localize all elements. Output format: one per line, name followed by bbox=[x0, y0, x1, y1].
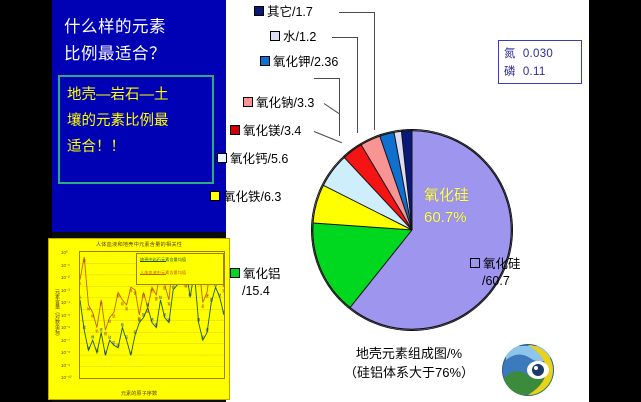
inset-y-tick: 10⁻⁹ bbox=[61, 363, 70, 369]
swatch-sio2-icon bbox=[470, 258, 480, 268]
pie-chart bbox=[312, 130, 512, 330]
svg-text:氧: 氧 bbox=[80, 281, 82, 286]
inset-y-tick: 10⁻¹⁰ bbox=[61, 375, 71, 381]
highlight-line-1: 地壳—岩石—土 bbox=[67, 82, 209, 108]
pie-label-sio2-value: /60.7 bbox=[470, 273, 521, 290]
svg-text:铬: 铬 bbox=[155, 322, 159, 327]
leader-na2o bbox=[324, 103, 339, 114]
nutrient-label-phosphorus: 磷 bbox=[504, 66, 516, 78]
svg-text:硒: 硒 bbox=[150, 288, 153, 293]
svg-text:镍: 镍 bbox=[167, 301, 170, 306]
svg-text:钙: 钙 bbox=[95, 347, 99, 352]
svg-text:磷: 磷 bbox=[117, 342, 121, 347]
pie-slice-borders bbox=[312, 130, 512, 330]
svg-text:硅: 硅 bbox=[108, 335, 112, 340]
inset-y-tick: 10⁰ bbox=[61, 250, 68, 256]
caption-line-1: 地壳元素组成图/% bbox=[310, 344, 508, 363]
svg-text:氧: 氧 bbox=[80, 294, 82, 299]
svg-text:镍: 镍 bbox=[167, 317, 170, 322]
swatch-cao-icon bbox=[217, 153, 227, 163]
svg-text:铷: 铷 bbox=[222, 310, 224, 315]
inset-y-tick: 10⁻⁷ bbox=[61, 338, 70, 344]
svg-text:钼: 钼 bbox=[142, 293, 145, 298]
svg-text:锌: 锌 bbox=[129, 350, 133, 355]
inset-legend: 地壳中岩石元素含量均值 人体血液中元素含量均值 bbox=[136, 253, 224, 285]
leader-water-h bbox=[332, 37, 358, 38]
svg-text:铜: 铜 bbox=[133, 291, 136, 296]
leader-water-v bbox=[357, 37, 358, 133]
inset-correlation-chart: 人体血液和地壳中元素含量的相关性 元素含量（对数坐标） 元素的原子序数 氧碳钠钾… bbox=[48, 238, 230, 400]
nutrient-row-phosphorus: 磷 0.11 bbox=[504, 63, 546, 79]
inset-x-axis-label: 元素的原子序数 bbox=[49, 390, 229, 397]
pie-center-label: 氧化硅 60.7% bbox=[424, 185, 469, 229]
nutrient-value-nitrogen: 0.030 bbox=[523, 48, 553, 60]
pie-label-al2o3: 氧化铝 /15.4 bbox=[230, 266, 281, 300]
nutrient-label-nitrogen: 氮 bbox=[504, 48, 516, 60]
svg-text:钒: 钒 bbox=[163, 312, 167, 317]
inset-y-axis-label: 元素含量（对数坐标） bbox=[50, 289, 60, 339]
swatch-al2o3-icon bbox=[230, 268, 240, 278]
svg-text:钾: 钾 bbox=[91, 313, 94, 318]
svg-text:碳: 碳 bbox=[83, 325, 87, 330]
swatch-water-icon bbox=[270, 31, 280, 41]
leader-other-v bbox=[374, 12, 375, 130]
svg-text:钼: 钼 bbox=[142, 312, 145, 317]
svg-text:铝: 铝 bbox=[112, 313, 115, 318]
swatch-mgo-icon bbox=[230, 125, 240, 135]
highlight-line-3: 适合！！ bbox=[67, 134, 209, 160]
inset-y-tick: 10⁻⁵ bbox=[61, 313, 70, 319]
highlight-box: 地壳—岩石—土 壤的元素比例最 适合！！ bbox=[58, 75, 214, 184]
swatch-other-icon bbox=[254, 6, 264, 16]
pie-label-sio2: 氧化硅 /60.7 bbox=[470, 256, 521, 290]
svg-text:钠: 钠 bbox=[87, 345, 90, 350]
pie-label-water: 水/1.2 bbox=[270, 30, 316, 45]
nutrient-value-phosphorus: 0.11 bbox=[523, 66, 546, 78]
svg-text:锂: 锂 bbox=[205, 327, 208, 332]
svg-text:铷: 铷 bbox=[222, 288, 224, 293]
title-line-1: 什么样的元素 bbox=[64, 14, 224, 41]
slide-screenshot: 什么样的元素 比例最适合？ 地壳—岩石—土 壤的元素比例最 适合！！ 人体血液和… bbox=[0, 0, 641, 402]
leader-k2o-h bbox=[314, 78, 340, 79]
pie-label-fe2o3-text: 氧化铁/6.3 bbox=[223, 190, 281, 204]
svg-text:硫: 硫 bbox=[121, 322, 125, 327]
pie-label-al2o3-text: 氧化铝 bbox=[243, 267, 281, 281]
pie-label-sio2-text: 氧化硅 bbox=[483, 257, 521, 271]
pie-label-k2o: 氧化钾/2.36 bbox=[260, 55, 338, 70]
nutrient-values-box: 氮 0.030 磷 0.11 bbox=[498, 40, 582, 84]
inset-legend-line-1 bbox=[140, 274, 166, 275]
chart-caption: 地壳元素组成图/% （硅铝体系大于76%） bbox=[310, 344, 508, 382]
pie-label-other: 其它/1.7 bbox=[254, 5, 313, 20]
inset-y-tick: 10⁻² bbox=[61, 275, 70, 281]
inset-chart-title: 人体血液和地壳中元素含量的相关性 bbox=[49, 241, 229, 248]
svg-text:汞: 汞 bbox=[201, 304, 205, 308]
earth-eye-logo-svg bbox=[502, 344, 554, 396]
svg-text:硒: 硒 bbox=[150, 317, 153, 322]
svg-text:铜: 铜 bbox=[133, 330, 136, 335]
svg-text:氯: 氯 bbox=[125, 335, 129, 340]
svg-text:钴: 钴 bbox=[159, 294, 162, 299]
svg-text:镁: 镁 bbox=[104, 350, 108, 355]
svg-text:钠: 钠 bbox=[87, 306, 90, 311]
pie-label-mgo: 氧化镁/3.4 bbox=[230, 124, 301, 139]
pie-label-cao: 氧化钙/5.6 bbox=[217, 152, 288, 167]
pie-label-water-text: 水/1.2 bbox=[283, 30, 316, 44]
leader-mgo bbox=[314, 131, 342, 143]
leader-other-h bbox=[339, 12, 375, 13]
inset-y-tick: 10⁻⁸ bbox=[61, 350, 70, 356]
inset-y-tick: 10⁻³ bbox=[61, 288, 70, 294]
pie-label-na2o-text: 氧化钠/3.3 bbox=[256, 96, 314, 110]
pie-center-value: 60.7% bbox=[424, 207, 469, 229]
pie-center-name: 氧化硅 bbox=[424, 185, 469, 207]
page-title: 什么样的元素 比例最适合？ bbox=[64, 14, 224, 68]
inset-y-tick: 10⁻¹ bbox=[61, 263, 70, 269]
svg-text:钾: 钾 bbox=[91, 335, 94, 340]
pie-label-mgo-text: 氧化镁/3.4 bbox=[243, 124, 301, 138]
svg-text:砷: 砷 bbox=[189, 292, 192, 297]
caption-line-2: （硅铝体系大于76%） bbox=[310, 363, 508, 382]
pie-label-fe2o3: 氧化铁/6.3 bbox=[210, 190, 281, 205]
highlight-text: 地壳—岩石—土 壤的元素比例最 适合！！ bbox=[67, 82, 209, 160]
pie-label-cao-text: 氧化钙/5.6 bbox=[230, 152, 288, 166]
inset-y-tick: 10⁻⁴ bbox=[61, 300, 70, 306]
nutrient-row-nitrogen: 氮 0.030 bbox=[504, 45, 553, 61]
earth-eye-logo bbox=[502, 344, 554, 396]
svg-text:硅: 硅 bbox=[108, 318, 112, 323]
pie-label-other-text: 其它/1.7 bbox=[267, 5, 313, 19]
swatch-k2o-icon bbox=[260, 56, 270, 66]
svg-text:锡: 锡 bbox=[172, 284, 175, 289]
inset-legend-line-0 bbox=[140, 261, 166, 262]
svg-text:氯: 氯 bbox=[125, 306, 129, 311]
swatch-fe2o3-icon bbox=[210, 191, 220, 201]
svg-text:碘: 碘 bbox=[146, 302, 150, 307]
svg-text:碳: 碳 bbox=[83, 258, 87, 263]
inset-y-tick: 10⁻⁶ bbox=[61, 325, 70, 331]
swatch-na2o-icon bbox=[243, 97, 253, 107]
leader-k2o-v bbox=[339, 78, 340, 136]
svg-text:铁: 铁 bbox=[100, 301, 104, 306]
slide-canvas: 什么样的元素 比例最适合？ 地壳—岩石—土 壤的元素比例最 适合！！ 人体血液和… bbox=[52, 0, 589, 402]
svg-text:镉: 镉 bbox=[197, 317, 200, 322]
pie-label-na2o: 氧化钠/3.3 bbox=[243, 96, 314, 111]
title-line-2: 比例最适合？ bbox=[64, 41, 224, 68]
svg-text:铝: 铝 bbox=[112, 340, 115, 345]
pie-label-al2o3-value: /15.4 bbox=[230, 283, 281, 300]
pie-label-k2o-text: 氧化钾/2.36 bbox=[273, 55, 338, 69]
highlight-line-2: 壤的元素比例最 bbox=[67, 108, 209, 134]
svg-text:锂: 锂 bbox=[205, 293, 208, 298]
